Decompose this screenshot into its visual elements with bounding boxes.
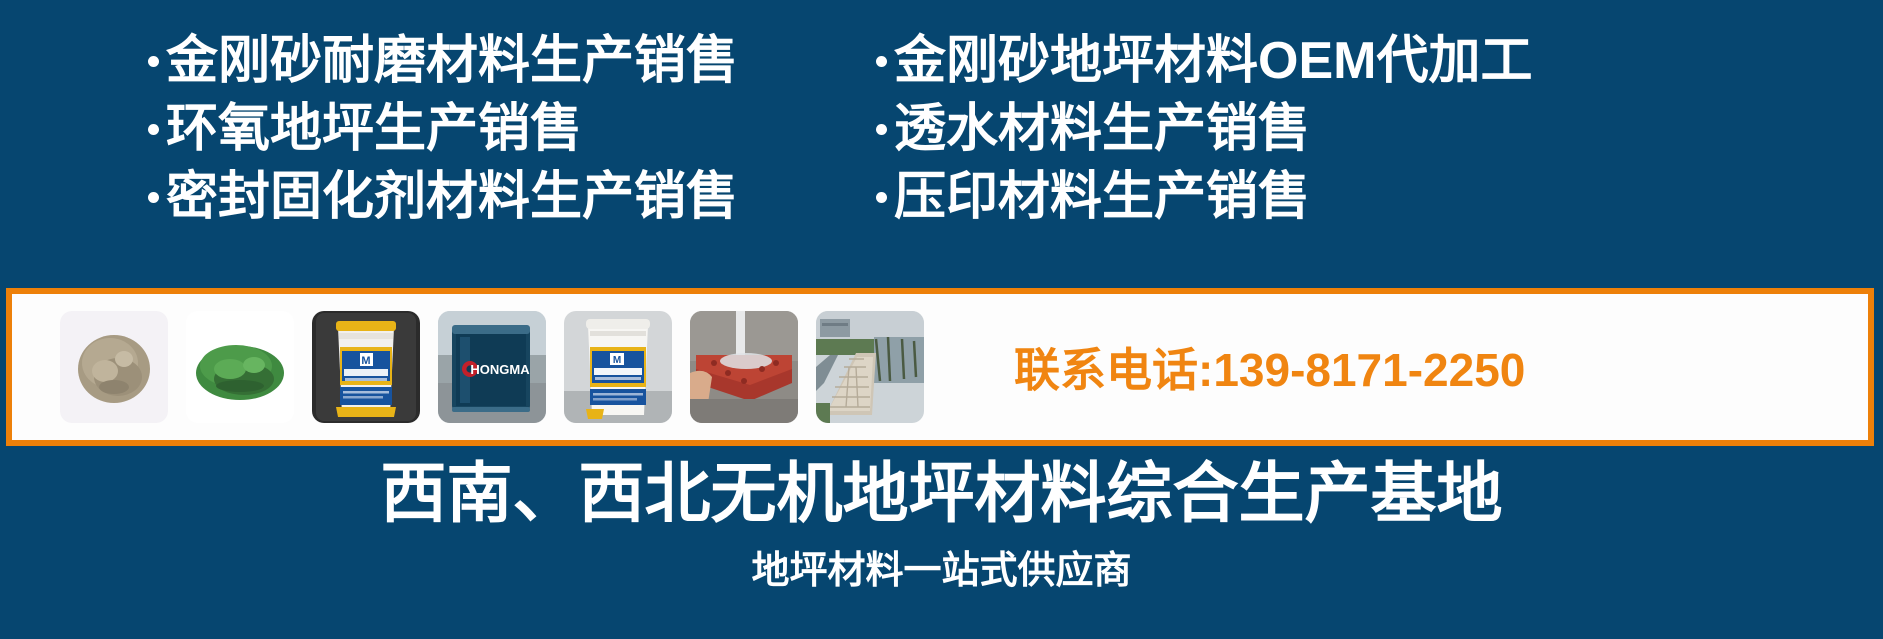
feature-label: 压印材料生产销售 bbox=[894, 166, 1310, 228]
feature-item: 环氧地坪生产销售 bbox=[148, 98, 848, 160]
bullet-icon bbox=[876, 124, 887, 135]
page-title: 西南、西北无机地坪材料综合生产基地 bbox=[0, 455, 1883, 531]
contact-phone-text: 联系电话:139-8171-2250 bbox=[1014, 334, 1525, 400]
feature-column-left: 金刚砂耐磨材料生产销售 环氧地坪生产销售 密封固化剂材料生产销售 bbox=[148, 30, 848, 228]
sealer-curing-agent-bucket-photo: M bbox=[312, 311, 420, 423]
stamped-concrete-path-photo bbox=[816, 311, 924, 423]
svg-text:HONGMA: HONGMA bbox=[470, 362, 530, 377]
feature-item: 透水材料生产销售 bbox=[876, 98, 1666, 160]
hongma-blue-drum-photo: HONGMA bbox=[438, 311, 546, 423]
bullet-icon bbox=[148, 124, 159, 135]
feature-lists: 金刚砂耐磨材料生产销售 环氧地坪生产销售 密封固化剂材料生产销售 金刚砂地坪材料… bbox=[0, 30, 1883, 245]
feature-item: 密封固化剂材料生产销售 bbox=[148, 166, 848, 228]
product-showcase-panel: M bbox=[6, 288, 1874, 446]
bullet-icon bbox=[148, 192, 159, 203]
page-subtitle: 地坪材料一站式供应商 bbox=[0, 548, 1883, 594]
feature-label: 金刚砂耐磨材料生产销售 bbox=[166, 30, 738, 92]
bullet-icon bbox=[876, 56, 887, 67]
epoxy-floor-coating-bucket-photo: M bbox=[564, 311, 672, 423]
feature-item: 压印材料生产销售 bbox=[876, 166, 1666, 228]
promotional-banner: 金刚砂耐磨材料生产销售 环氧地坪生产销售 密封固化剂材料生产销售 金刚砂地坪材料… bbox=[0, 0, 1883, 639]
bullet-icon bbox=[148, 56, 159, 67]
feature-label: 密封固化剂材料生产销售 bbox=[166, 166, 738, 228]
green-abrasive-powder-photo bbox=[186, 311, 294, 423]
feature-column-right: 金刚砂地坪材料OEM代加工 透水材料生产销售 压印材料生产销售 bbox=[876, 30, 1666, 228]
svg-text:M: M bbox=[613, 355, 621, 366]
product-thumbnail-strip: M bbox=[60, 311, 924, 423]
feature-label: 环氧地坪生产销售 bbox=[166, 98, 582, 160]
feature-item: 金刚砂地坪材料OEM代加工 bbox=[876, 30, 1666, 92]
feature-item: 金刚砂耐磨材料生产销售 bbox=[148, 30, 848, 92]
gray-abrasive-powder-photo bbox=[60, 311, 168, 423]
permeable-concrete-sample-photo bbox=[690, 311, 798, 423]
svg-text:M: M bbox=[361, 355, 370, 367]
feature-label: 透水材料生产销售 bbox=[894, 98, 1310, 160]
bullet-icon bbox=[876, 192, 887, 203]
feature-label: 金刚砂地坪材料OEM代加工 bbox=[894, 30, 1532, 92]
